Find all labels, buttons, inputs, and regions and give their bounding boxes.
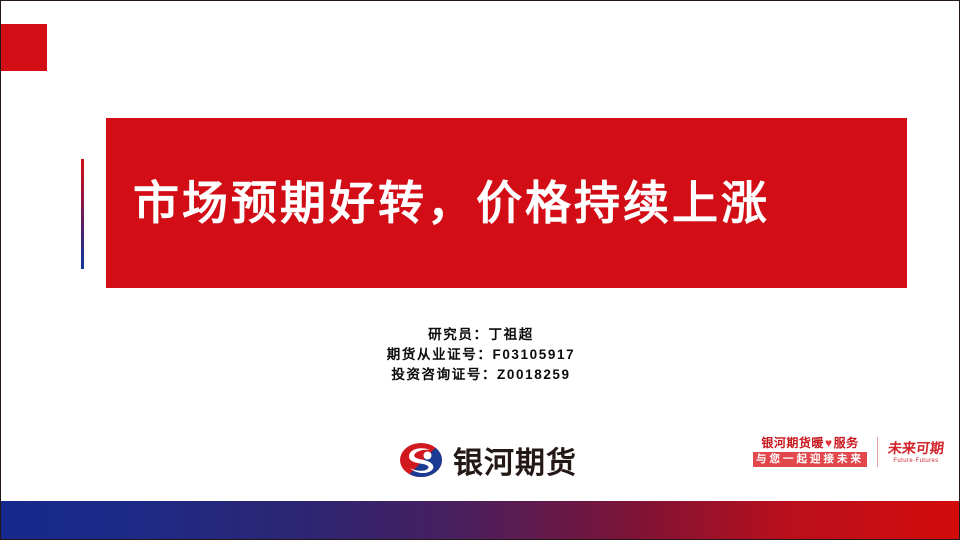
service-slogan-badge: 银河期货暖 ♥ 服务 与您一起迎接未来 未来可期 Future·Futures	[753, 437, 944, 467]
credit-futures-license: 期货从业证号：F03105917	[1, 345, 960, 365]
vertical-gradient-rule-decoration	[81, 159, 84, 269]
future-sublogo-en: Future·Futures	[893, 457, 938, 465]
service-slogan-suffix: 服务	[834, 437, 859, 450]
title-banner: 市场预期好转，价格持续上涨	[106, 118, 907, 288]
brand-lockup: 银河期货	[399, 438, 577, 482]
badge-divider	[877, 437, 878, 467]
future-sublogo: 未来可期 Future·Futures	[888, 440, 944, 465]
service-slogan-top-line: 银河期货暖 ♥ 服务	[753, 437, 867, 450]
credit-investment-consulting-license: 投资咨询证号：Z0018259	[1, 365, 960, 385]
galaxy-futures-logo-icon	[399, 440, 443, 480]
future-sublogo-cn: 未来可期	[887, 440, 945, 456]
author-credits-block: 研究员：丁祖超 期货从业证号：F03105917 投资咨询证号：Z0018259	[1, 325, 960, 385]
presentation-title-slide: 市场预期好转，价格持续上涨 研究员：丁祖超 期货从业证号：F03105917 投…	[0, 0, 960, 540]
heart-icon: ♥	[825, 437, 833, 449]
service-slogan-prefix: 银河期货暖	[761, 437, 824, 450]
top-left-red-block-decoration	[1, 24, 47, 71]
service-slogan-text-group: 银河期货暖 ♥ 服务 与您一起迎接未来	[753, 437, 867, 467]
credit-researcher: 研究员：丁祖超	[1, 325, 960, 345]
page-title: 市场预期好转，价格持续上涨	[106, 178, 770, 229]
bottom-gradient-bar	[1, 501, 960, 539]
brand-name: 银河期货	[453, 438, 577, 482]
service-slogan-bottom-line: 与您一起迎接未来	[753, 452, 867, 467]
